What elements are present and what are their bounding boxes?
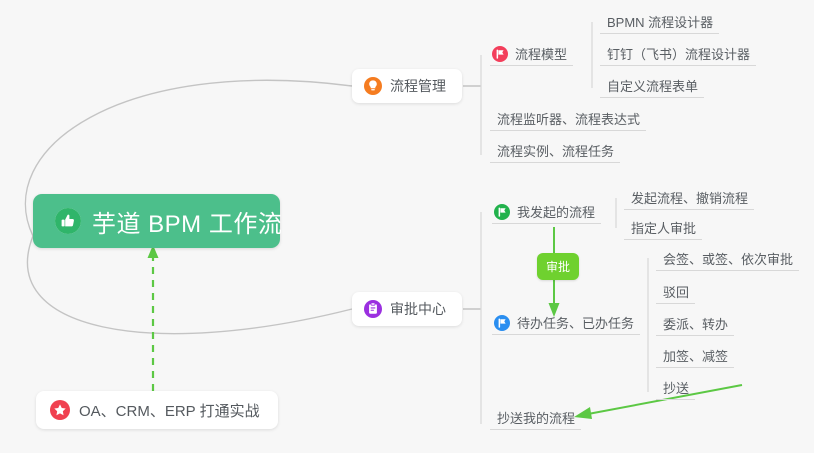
topic-assign-approver[interactable]: 指定人审批 (624, 216, 702, 240)
topic-label-add-remove-sign: 加签、减签 (663, 346, 728, 365)
approval-badge-label: 审批 (546, 260, 570, 274)
topic-countersign[interactable]: 会签、或签、依次审批 (656, 247, 799, 271)
branch-node-approval-center[interactable]: 审批中心 (352, 292, 462, 326)
star-icon (50, 400, 70, 420)
topic-label-reject: 驳回 (663, 282, 689, 301)
topic-label-custom-form: 自定义流程表单 (607, 76, 698, 95)
footer-node-oa-crm-erp[interactable]: OA、CRM、ERP 打通实战 (36, 391, 278, 429)
topic-label-process-listener: 流程监听器、流程表达式 (497, 109, 640, 128)
topic-label-dingtalk-feishu-designer: 钉钉（飞书）流程设计器 (607, 44, 750, 63)
topic-delegate-transfer[interactable]: 委派、转办 (656, 312, 734, 336)
topic-label-cc: 抄送 (663, 378, 689, 397)
topic-label-start-cancel-process: 发起流程、撤销流程 (631, 188, 748, 207)
topic-label-cc-to-me: 抄送我的流程 (497, 408, 575, 427)
branch-label-approval-center: 审批中心 (390, 299, 446, 319)
topic-bpmn-designer[interactable]: BPMN 流程设计器 (600, 10, 719, 34)
lightbulb-icon (364, 77, 382, 95)
flag-icon-blue (494, 315, 510, 331)
topic-start-cancel-process[interactable]: 发起流程、撤销流程 (624, 186, 754, 210)
topic-process-listener[interactable]: 流程监听器、流程表达式 (490, 107, 646, 131)
branch-node-process-management[interactable]: 流程管理 (352, 69, 462, 103)
topic-label-process-model: 流程模型 (515, 44, 567, 63)
topic-custom-form[interactable]: 自定义流程表单 (600, 74, 704, 98)
topic-label-delegate-transfer: 委派、转办 (663, 314, 728, 333)
mindmap-canvas: 芋道 BPM 工作流 流程管理 流程模型 BPMN 流程设计器 钉钉（飞书）流程… (0, 0, 814, 453)
root-node[interactable]: 芋道 BPM 工作流 (33, 194, 280, 248)
topic-add-remove-sign[interactable]: 加签、减签 (656, 344, 734, 368)
topic-cc[interactable]: 抄送 (656, 376, 695, 400)
topic-label-my-initiated: 我发起的流程 (517, 202, 595, 221)
thumbs-up-icon (55, 208, 81, 234)
topic-process-model[interactable]: 流程模型 (490, 42, 573, 66)
branch-label-process-management: 流程管理 (390, 76, 446, 96)
topic-label-bpmn-designer: BPMN 流程设计器 (607, 12, 713, 31)
flag-icon-green (494, 204, 510, 220)
topic-label-process-instance: 流程实例、流程任务 (497, 141, 614, 160)
topic-cc-to-me[interactable]: 抄送我的流程 (490, 406, 581, 430)
topic-todo-done[interactable]: 待办任务、已办任务 (492, 311, 640, 335)
topic-dingtalk-feishu-designer[interactable]: 钉钉（飞书）流程设计器 (600, 42, 756, 66)
topic-reject[interactable]: 驳回 (656, 280, 695, 304)
topic-my-initiated[interactable]: 我发起的流程 (492, 200, 601, 224)
topic-process-instance[interactable]: 流程实例、流程任务 (490, 139, 620, 163)
root-label: 芋道 BPM 工作流 (92, 204, 282, 239)
footer-node-label: OA、CRM、ERP 打通实战 (79, 400, 260, 421)
topic-label-countersign: 会签、或签、依次审批 (663, 249, 793, 268)
topic-label-todo-done: 待办任务、已办任务 (517, 313, 634, 332)
approval-badge[interactable]: 审批 (537, 253, 579, 280)
clipboard-icon (364, 300, 382, 318)
flag-icon-red (492, 46, 508, 62)
topic-label-assign-approver: 指定人审批 (631, 218, 696, 237)
